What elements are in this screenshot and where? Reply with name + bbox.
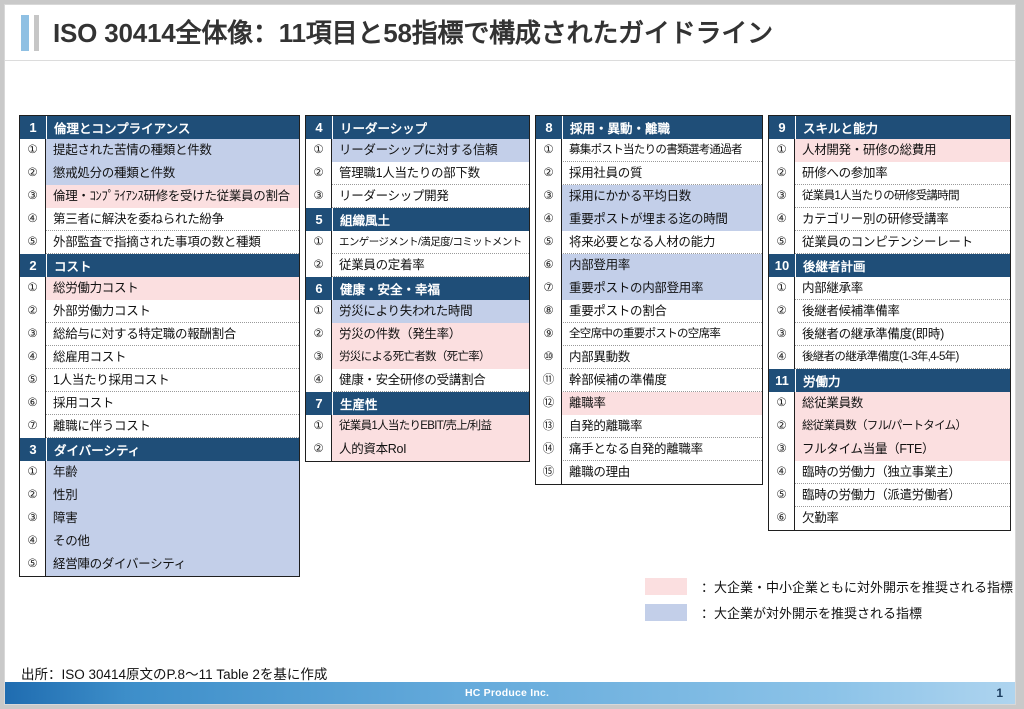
- indicator-number: ①: [306, 300, 332, 323]
- indicator-number: ②: [306, 162, 332, 185]
- indicator-number: ②: [306, 438, 332, 461]
- indicator-row: ⑤経営陣のダイバーシティ: [20, 553, 299, 576]
- indicator-row: ③採用にかかる平均日数: [536, 185, 762, 208]
- indicator-label: 採用にかかる平均日数: [562, 185, 762, 208]
- indicator-number: ③: [536, 185, 562, 208]
- indicator-row: ②従業員の定着率: [306, 254, 529, 277]
- indicator-label: 幹部候補の準備度: [562, 369, 762, 392]
- indicator-number: ④: [769, 208, 795, 231]
- legend: ：大企業・中小企業ともに対外開示を推奨される指標：大企業が対外開示を推奨される指…: [645, 573, 1015, 625]
- indicator-row: ⑥採用コスト: [20, 392, 299, 415]
- indicator-label: 管理職1人当たりの部下数: [332, 162, 529, 185]
- indicator-label: 年齢: [46, 461, 299, 484]
- group-number: 5: [306, 208, 333, 231]
- indicator-number: ⑫: [536, 392, 562, 415]
- indicator-label: 重要ポストが埋まる迄の時間: [562, 208, 762, 231]
- group-header: 6健康・安全・幸福: [306, 277, 529, 300]
- indicator-label: 従業員1人当たりEBIT/売上/利益: [332, 415, 529, 438]
- indicator-row: ①年齢: [20, 461, 299, 484]
- indicator-row: ②性別: [20, 484, 299, 507]
- indicator-label: 懲戒処分の種類と件数: [46, 162, 299, 185]
- group-number: 3: [20, 438, 47, 461]
- indicator-number: ②: [20, 484, 46, 507]
- indicator-row: ③後継者の継承準備度(即時): [769, 323, 1010, 346]
- indicator-row: ⑥内部登用率: [536, 254, 762, 277]
- indicator-label: 総雇用コスト: [46, 346, 299, 369]
- group-number: 10: [769, 254, 796, 277]
- indicator-row: ⑮離職の理由: [536, 461, 762, 484]
- indicator-row: ④カテゴリー別の研修受講率: [769, 208, 1010, 231]
- accent-bar-gray-icon: [34, 15, 39, 51]
- indicator-label: 第三者に解決を委ねられた紛争: [46, 208, 299, 231]
- indicator-row: ⑤臨時の労働力（派遣労働者）: [769, 484, 1010, 507]
- group-number: 9: [769, 116, 796, 139]
- group-header: 8採用・異動・離職: [536, 116, 762, 139]
- indicator-row: ②採用社員の質: [536, 162, 762, 185]
- indicator-number: ①: [306, 139, 332, 162]
- group-header: 1倫理とコンプライアンス: [20, 116, 299, 139]
- indicator-label: 経営陣のダイバーシティ: [46, 553, 299, 576]
- indicator-label: 痛手となる自発的離職率: [562, 438, 762, 461]
- indicator-row: ②人的資本RoI: [306, 438, 529, 461]
- indicator-row: ⑭痛手となる自発的離職率: [536, 438, 762, 461]
- indicator-number: ①: [20, 139, 46, 162]
- indicator-row: ①従業員1人当たりEBIT/売上/利益: [306, 415, 529, 438]
- indicator-number: ⑨: [536, 323, 562, 346]
- indicator-number: ⑬: [536, 415, 562, 438]
- indicator-number: ③: [306, 346, 332, 369]
- group-header: 3ダイバーシティ: [20, 438, 299, 461]
- indicator-number: ③: [20, 185, 46, 208]
- indicator-row: ④健康・安全研修の受講割合: [306, 369, 529, 392]
- indicator-label: 従業員のコンピテンシーレート: [795, 231, 1010, 254]
- indicator-column-1: 1倫理とコンプライアンス①提起された苦情の種類と件数②懲戒処分の種類と件数③倫理…: [19, 115, 300, 577]
- indicator-number: ④: [536, 208, 562, 231]
- indicator-label: 全空席中の重要ポストの空席率: [562, 323, 762, 346]
- page-title: ISO 30414全体像：11項目と58指標で構成されたガイドライン: [53, 13, 773, 53]
- group-header: 9スキルと能力: [769, 116, 1010, 139]
- indicator-number: ⑥: [536, 254, 562, 277]
- indicator-label: 離職に伴うコスト: [46, 415, 299, 438]
- indicator-label: カテゴリー別の研修受講率: [795, 208, 1010, 231]
- group-label: コスト: [47, 256, 92, 275]
- indicator-number: ②: [769, 162, 795, 185]
- indicator-row: ⑨全空席中の重要ポストの空席率: [536, 323, 762, 346]
- indicator-column-2: 4リーダーシップ①リーダーシップに対する信頼②管理職1人当たりの部下数③リーダー…: [305, 115, 530, 462]
- indicator-row: ②懲戒処分の種類と件数: [20, 162, 299, 185]
- indicator-number: ④: [769, 346, 795, 369]
- indicator-label: 1人当たり採用コスト: [46, 369, 299, 392]
- indicator-row: ④臨時の労働力（独立事業主）: [769, 461, 1010, 484]
- indicator-row: ①エンゲージメント/満足度/コミットメント: [306, 231, 529, 254]
- indicator-label: 性別: [46, 484, 299, 507]
- indicator-number: ①: [536, 139, 562, 162]
- indicator-label: 内部継承率: [795, 277, 1010, 300]
- indicator-label: フルタイム当量（FTE）: [795, 438, 1010, 461]
- indicator-label: 総給与に対する特定職の報酬割合: [46, 323, 299, 346]
- indicator-row: ③倫理・ｺﾝﾌﾟﾗｲｱﾝｽ研修を受けた従業員の割合: [20, 185, 299, 208]
- indicator-number: ⑦: [20, 415, 46, 438]
- indicator-label: 後継者候補準備率: [795, 300, 1010, 323]
- indicator-number: ①: [20, 277, 46, 300]
- indicator-number: ③: [306, 185, 332, 208]
- legend-label: ：大企業が対外開示を推奨される指標: [701, 603, 922, 622]
- indicator-label: 募集ポスト当たりの書類選考通過者: [562, 139, 762, 162]
- indicator-row: ③フルタイム当量（FTE）: [769, 438, 1010, 461]
- indicator-row: ②労災の件数（発生率）: [306, 323, 529, 346]
- indicator-row: ②後継者候補準備率: [769, 300, 1010, 323]
- group-label: ダイバーシティ: [47, 440, 140, 459]
- indicator-label: 総労働力コスト: [46, 277, 299, 300]
- indicator-row: ②管理職1人当たりの部下数: [306, 162, 529, 185]
- indicator-label: 外部労働力コスト: [46, 300, 299, 323]
- indicator-row: ①人材開発・研修の総費用: [769, 139, 1010, 162]
- indicator-number: ③: [20, 323, 46, 346]
- group-label: スキルと能力: [796, 118, 878, 137]
- indicator-number: ⑪: [536, 369, 562, 392]
- indicator-number: ②: [20, 300, 46, 323]
- indicator-row: ①提起された苦情の種類と件数: [20, 139, 299, 162]
- legend-swatch-icon: [645, 604, 687, 621]
- indicator-row: ⑥欠勤率: [769, 507, 1010, 530]
- indicator-label: 外部監査で指摘された事項の数と種類: [46, 231, 299, 254]
- indicator-label: 採用コスト: [46, 392, 299, 415]
- indicator-row: ②研修への参加率: [769, 162, 1010, 185]
- group-label: 後継者計画: [796, 256, 866, 275]
- indicator-label: 労災により失われた時間: [332, 300, 529, 323]
- legend-swatch-icon: [645, 578, 687, 595]
- indicator-row: ⑦重要ポストの内部登用率: [536, 277, 762, 300]
- group-number: 4: [306, 116, 333, 139]
- indicator-number: ⑤: [536, 231, 562, 254]
- indicator-number: ①: [306, 415, 332, 438]
- indicator-label: 従業員1人当たりの研修受講時間: [795, 185, 1010, 208]
- indicator-label: 内部異動数: [562, 346, 762, 369]
- indicator-label: 総従業員数（フル/パートタイム）: [795, 415, 1010, 438]
- source-note: 出所：ISO 30414原文のP.8〜11 Table 2を基に作成: [21, 663, 327, 683]
- indicator-number: ⑤: [769, 231, 795, 254]
- indicator-row: ⑦離職に伴うコスト: [20, 415, 299, 438]
- indicator-number: ⑤: [20, 231, 46, 254]
- group-label: 健康・安全・幸福: [333, 279, 440, 298]
- indicator-row: ⑪幹部候補の準備度: [536, 369, 762, 392]
- indicator-row: ⑫離職率: [536, 392, 762, 415]
- indicator-number: ③: [769, 323, 795, 346]
- indicator-number: ①: [769, 277, 795, 300]
- indicator-label: 人的資本RoI: [332, 438, 529, 461]
- indicator-label: 後継者の継承準備度(1-3年,4-5年): [795, 346, 1010, 369]
- group-label: 採用・異動・離職: [563, 118, 670, 137]
- indicator-row: ①リーダーシップに対する信頼: [306, 139, 529, 162]
- indicator-label: 欠勤率: [795, 507, 1010, 530]
- indicator-label: リーダーシップに対する信頼: [332, 139, 529, 162]
- footer-page-number: 1: [996, 682, 1003, 704]
- indicator-row: ⑧重要ポストの割合: [536, 300, 762, 323]
- indicator-row: ⑩内部異動数: [536, 346, 762, 369]
- indicator-label: 障害: [46, 507, 299, 530]
- indicator-row: ③リーダーシップ開発: [306, 185, 529, 208]
- group-label: 労働力: [796, 371, 841, 390]
- accent-bar-blue-icon: [21, 15, 29, 51]
- group-label: 生産性: [333, 394, 378, 413]
- indicator-number: ③: [20, 507, 46, 530]
- indicator-number: ②: [20, 162, 46, 185]
- indicator-number: ②: [306, 254, 332, 277]
- indicator-label: 総従業員数: [795, 392, 1010, 415]
- indicator-row: ③総給与に対する特定職の報酬割合: [20, 323, 299, 346]
- indicator-row: ①総労働力コスト: [20, 277, 299, 300]
- indicator-row: ①募集ポスト当たりの書類選考通過者: [536, 139, 762, 162]
- indicator-row: ④重要ポストが埋まる迄の時間: [536, 208, 762, 231]
- indicator-number: ①: [20, 461, 46, 484]
- indicator-number: ①: [769, 392, 795, 415]
- indicator-number: ④: [769, 461, 795, 484]
- indicator-number: ②: [769, 415, 795, 438]
- indicator-label: 内部登用率: [562, 254, 762, 277]
- indicator-row: ⑤外部監査で指摘された事項の数と種類: [20, 231, 299, 254]
- group-label: リーダーシップ: [333, 118, 427, 137]
- indicator-number: ⑤: [769, 484, 795, 507]
- indicator-row: ④その他: [20, 530, 299, 553]
- indicator-label: 臨時の労働力（独立事業主）: [795, 461, 1010, 484]
- indicator-label: 労災による死亡者数（死亡率）: [332, 346, 529, 369]
- indicator-row: ①労災により失われた時間: [306, 300, 529, 323]
- indicator-number: ②: [536, 162, 562, 185]
- indicator-row: ④第三者に解決を委ねられた紛争: [20, 208, 299, 231]
- indicator-label: 採用社員の質: [562, 162, 762, 185]
- group-header: 2コスト: [20, 254, 299, 277]
- indicator-label: 研修への参加率: [795, 162, 1010, 185]
- indicator-number: ④: [20, 208, 46, 231]
- group-label: 倫理とコンプライアンス: [47, 118, 190, 137]
- indicator-number: ④: [306, 369, 332, 392]
- indicator-number: ⑤: [20, 369, 46, 392]
- indicator-number: ⑦: [536, 277, 562, 300]
- indicator-number: ④: [20, 530, 46, 553]
- group-number: 1: [20, 116, 47, 139]
- group-label: 組織風土: [333, 210, 390, 229]
- group-header: 10後継者計画: [769, 254, 1010, 277]
- indicator-row: ⑬自発的離職率: [536, 415, 762, 438]
- indicator-number: ⑥: [20, 392, 46, 415]
- group-number: 8: [536, 116, 563, 139]
- indicator-number: ⑮: [536, 461, 562, 484]
- indicator-number: ⑧: [536, 300, 562, 323]
- indicator-row: ②総従業員数（フル/パートタイム）: [769, 415, 1010, 438]
- indicator-number: ①: [306, 231, 332, 254]
- indicator-label: 将来必要となる人材の能力: [562, 231, 762, 254]
- group-header: 4リーダーシップ: [306, 116, 529, 139]
- indicator-row: ②外部労働力コスト: [20, 300, 299, 323]
- indicator-number: ⑩: [536, 346, 562, 369]
- group-header: 7生産性: [306, 392, 529, 415]
- indicator-label: 倫理・ｺﾝﾌﾟﾗｲｱﾝｽ研修を受けた従業員の割合: [46, 185, 299, 208]
- indicator-number: ③: [769, 438, 795, 461]
- indicator-row: ③労災による死亡者数（死亡率）: [306, 346, 529, 369]
- indicator-row: ①内部継承率: [769, 277, 1010, 300]
- group-header: 5組織風土: [306, 208, 529, 231]
- group-header: 11労働力: [769, 369, 1010, 392]
- indicator-label: 人材開発・研修の総費用: [795, 139, 1010, 162]
- indicator-column-3: 8採用・異動・離職①募集ポスト当たりの書類選考通過者②採用社員の質③採用にかかる…: [535, 115, 763, 485]
- group-number: 7: [306, 392, 333, 415]
- legend-item: ：大企業・中小企業ともに対外開示を推奨される指標: [645, 573, 1015, 599]
- indicator-label: 自発的離職率: [562, 415, 762, 438]
- group-number: 6: [306, 277, 333, 300]
- indicator-row: ③従業員1人当たりの研修受講時間: [769, 185, 1010, 208]
- indicator-row: ③障害: [20, 507, 299, 530]
- slide-canvas: ISO 30414全体像：11項目と58指標で構成されたガイドライン 1倫理とコ…: [4, 4, 1016, 705]
- group-number: 2: [20, 254, 47, 277]
- indicator-label: 重要ポストの内部登用率: [562, 277, 762, 300]
- group-number: 11: [769, 369, 796, 392]
- indicator-label: エンゲージメント/満足度/コミットメント: [332, 231, 529, 254]
- indicator-number: ②: [769, 300, 795, 323]
- slide-footer: HC Produce Inc. 1: [5, 682, 1015, 704]
- indicator-number: ①: [769, 139, 795, 162]
- indicator-number: ③: [769, 185, 795, 208]
- indicator-label: 後継者の継承準備度(即時): [795, 323, 1010, 346]
- indicator-row: ⑤従業員のコンピテンシーレート: [769, 231, 1010, 254]
- indicator-row: ⑤1人当たり採用コスト: [20, 369, 299, 392]
- indicator-number: ⑤: [20, 553, 46, 576]
- indicator-number: ⑭: [536, 438, 562, 461]
- indicator-label: 健康・安全研修の受講割合: [332, 369, 529, 392]
- indicator-number: ④: [20, 346, 46, 369]
- indicator-label: 離職率: [562, 392, 762, 415]
- indicator-row: ⑤将来必要となる人材の能力: [536, 231, 762, 254]
- indicator-row: ④後継者の継承準備度(1-3年,4-5年): [769, 346, 1010, 369]
- indicator-label: リーダーシップ開発: [332, 185, 529, 208]
- indicator-label: 臨時の労働力（派遣労働者）: [795, 484, 1010, 507]
- legend-item: ：大企業が対外開示を推奨される指標: [645, 599, 1015, 625]
- indicator-label: 従業員の定着率: [332, 254, 529, 277]
- indicator-row: ①総従業員数: [769, 392, 1010, 415]
- indicator-number: ②: [306, 323, 332, 346]
- footer-brand: HC Produce Inc.: [465, 682, 549, 704]
- indicator-column-4: 9スキルと能力①人材開発・研修の総費用②研修への参加率③従業員1人当たりの研修受…: [768, 115, 1011, 531]
- indicator-number: ⑥: [769, 507, 795, 530]
- indicator-label: その他: [46, 530, 299, 553]
- indicator-label: 重要ポストの割合: [562, 300, 762, 323]
- indicator-label: 提起された苦情の種類と件数: [46, 139, 299, 162]
- indicator-label: 離職の理由: [562, 461, 762, 484]
- legend-label: ：大企業・中小企業ともに対外開示を推奨される指標: [701, 577, 1013, 596]
- slide-header: ISO 30414全体像：11項目と58指標で構成されたガイドライン: [5, 5, 1015, 61]
- indicator-label: 労災の件数（発生率）: [332, 323, 529, 346]
- indicator-row: ④総雇用コスト: [20, 346, 299, 369]
